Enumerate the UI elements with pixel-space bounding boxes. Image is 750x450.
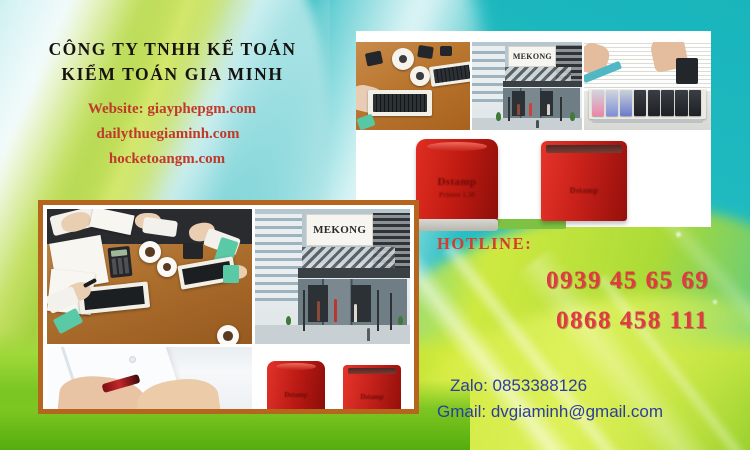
building-sign-text: MEKONG — [513, 52, 552, 61]
website-line-1[interactable]: Website: giayphepgm.com — [0, 97, 330, 122]
hotline-phone-2[interactable]: 0868 458 111 — [556, 307, 709, 335]
company-name: CÔNG TY TNHH KẾ TOÁN KIỂM TOÁN GIA MINH — [0, 37, 345, 87]
hotline-phone-1[interactable]: 0939 45 65 69 — [546, 267, 709, 295]
photo-office-desk — [356, 42, 470, 130]
stamp-brand-label: Dstamp — [541, 186, 627, 195]
stamp-square: Dstamp — [343, 365, 401, 409]
building-sign: MEKONG — [508, 46, 556, 67]
advertising-banner: MEKONG — [0, 0, 750, 450]
photo-signing-hands — [47, 347, 252, 409]
collage-photo-row: MEKONG — [356, 42, 711, 130]
stamp-round: Dstamp Printer 1.38 — [416, 139, 498, 223]
photo-collage-bottom-left: MEKONG — [38, 200, 419, 414]
website-line-3[interactable]: hocketoangm.com — [0, 147, 330, 172]
stamp-brand-label: Dstamp — [267, 391, 325, 399]
photo-red-stamps-small: Dstamp Dstamp — [255, 353, 410, 409]
stamp-brand-label: Dstamp — [343, 393, 401, 401]
hotline-label: HOTLINE: — [437, 234, 532, 254]
photo-building-facade: MEKONG — [472, 42, 582, 130]
stamp-square: Dstamp — [541, 141, 627, 221]
stamp-brand-label: Dstamp — [416, 176, 498, 188]
background-sparkle — [676, 232, 681, 237]
stamp-round: Dstamp — [267, 361, 325, 409]
website-list: Website: giayphepgm.com dailythuegiaminh… — [0, 97, 330, 172]
building-sign-text: MEKONG — [313, 224, 366, 236]
company-name-line-2: KIỂM TOÁN GIA MINH — [0, 62, 345, 87]
photo-stamp-pads — [584, 42, 711, 130]
stamp-model-label: Printer 1.38 — [416, 191, 498, 199]
building-sign: MEKONG — [306, 214, 373, 246]
photo-building-facade: MEKONG — [255, 209, 410, 344]
photo-collage-top-right: MEKONG — [356, 31, 711, 227]
background-sparkle — [713, 300, 717, 304]
gmail-contact[interactable]: Gmail: dvgiaminh@gmail.com — [437, 398, 663, 426]
zalo-contact[interactable]: Zalo: 0853388126 — [450, 372, 587, 400]
photo-team-meeting — [47, 209, 252, 344]
website-line-2[interactable]: dailythuegiaminh.com — [0, 122, 330, 147]
company-name-line-1: CÔNG TY TNHH KẾ TOÁN — [0, 37, 345, 62]
